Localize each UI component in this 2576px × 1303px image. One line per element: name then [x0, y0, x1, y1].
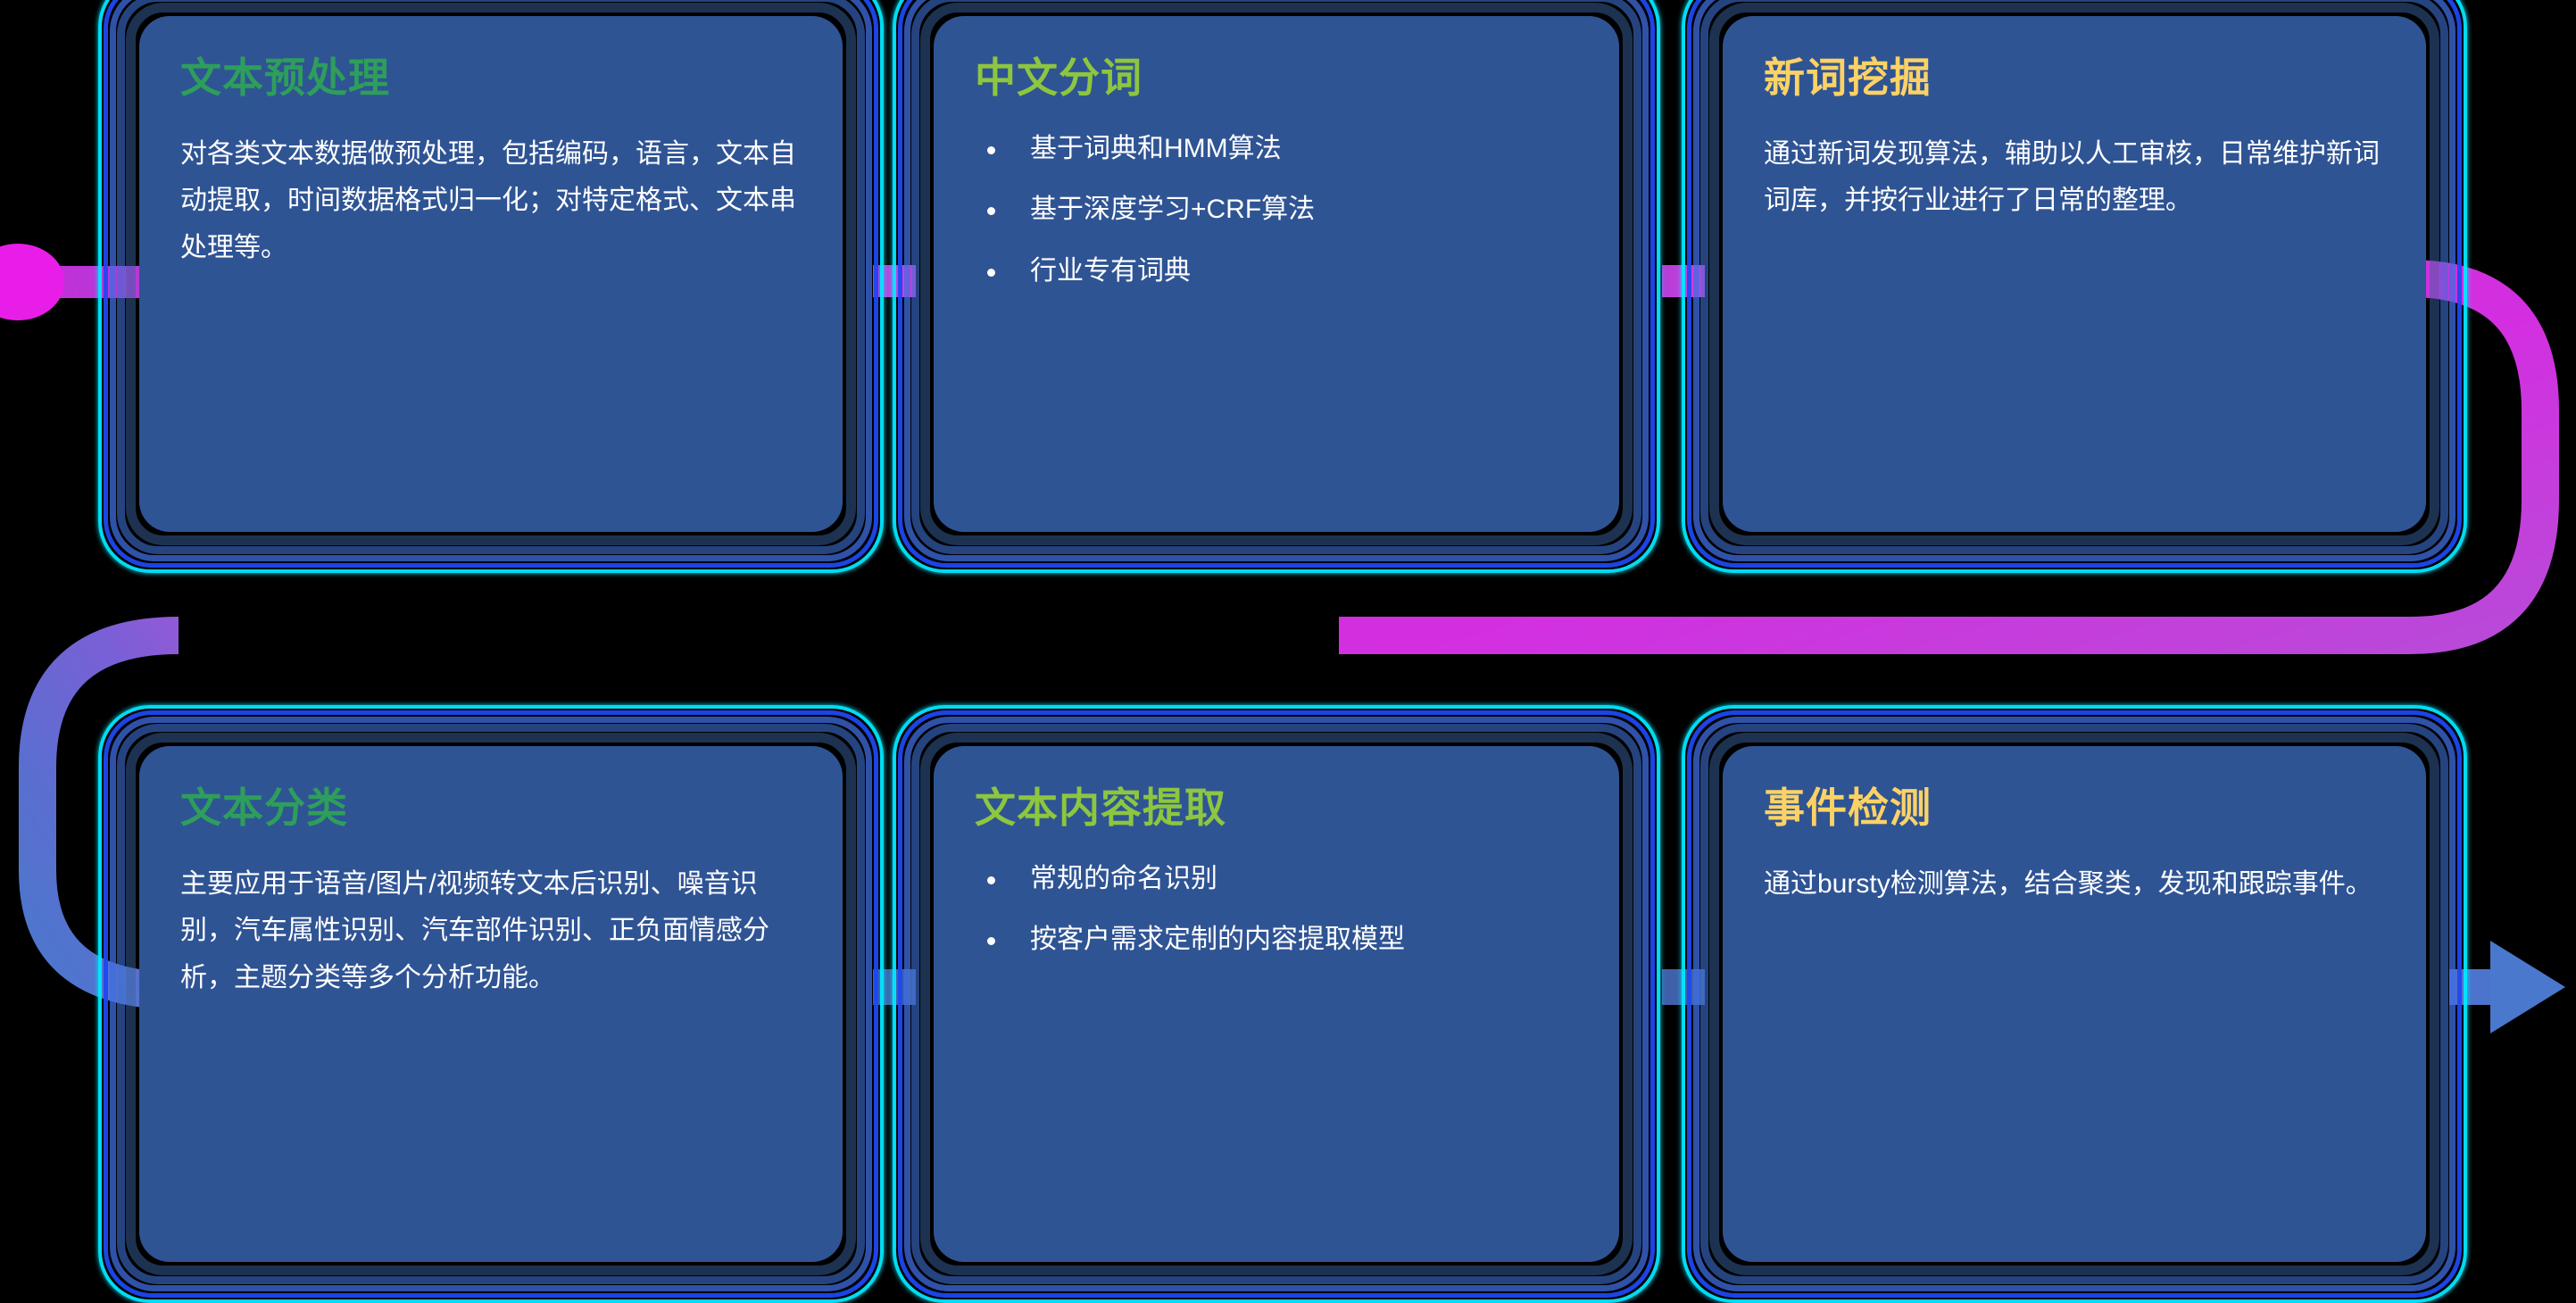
list-item-label: 基于词典和HMM算法: [1030, 134, 1282, 163]
bullet-dot-icon: [987, 207, 995, 215]
card-text-content-extraction[interactable]: 文本内容提取 常规的命名识别 按客户需求定制的内容提取模型: [893, 705, 1660, 1303]
card-chinese-word-segmentation[interactable]: 中文分词 基于词典和HMM算法 基于深度学习+CRF算法 行业专有词典: [893, 0, 1660, 573]
list-item-label: 行业专有词典: [1030, 256, 1191, 286]
card-event-detection[interactable]: 事件检测 通过bursty检测算法，结合聚类，发现和跟踪事件。: [1682, 705, 2467, 1303]
card-surface: 文本预处理 对各类文本数据做预处理，包括编码，语言，文本自动提取，时间数据格式归…: [139, 16, 843, 532]
card-paragraph: 通过新词发现算法，辅助以人工审核，日常维护新词词库，并按行业进行了日常的整理。: [1764, 131, 2385, 225]
list-item-label: 基于深度学习+CRF算法: [1030, 195, 1315, 224]
card-bullet-list: 常规的命名识别 按客户需求定制的内容提取模型: [975, 861, 1578, 959]
card-surface: 文本分类 主要应用于语音/图片/视频转文本后识别、噪音识别，汽车属性识别、汽车部…: [139, 746, 843, 1262]
card-body: 主要应用于语音/图片/视频转文本后识别、噪音识别，汽车属性识别、汽车部件识别、正…: [180, 861, 802, 1002]
list-item: 常规的命名识别: [975, 861, 1578, 898]
card-paragraph: 通过bursty检测算法，结合聚类，发现和跟踪事件。: [1764, 861, 2385, 909]
bullet-dot-icon: [987, 146, 995, 154]
card-new-word-mining[interactable]: 新词挖掘 通过新词发现算法，辅助以人工审核，日常维护新词词库，并按行业进行了日常…: [1682, 0, 2467, 573]
card-title: 新词挖掘: [1764, 55, 2385, 101]
card-title: 文本分类: [180, 785, 802, 831]
diagram-canvas: 文本预处理 对各类文本数据做预处理，包括编码，语言，文本自动提取，时间数据格式归…: [0, 0, 2576, 1277]
card-paragraph: 对各类文本数据做预处理，包括编码，语言，文本自动提取，时间数据格式归一化；对特定…: [180, 131, 802, 272]
card-title: 事件检测: [1764, 785, 2385, 831]
bullet-dot-icon: [987, 269, 995, 277]
card-title: 文本预处理: [180, 55, 802, 101]
card-body: 基于词典和HMM算法 基于深度学习+CRF算法 行业专有词典: [975, 131, 1578, 290]
card-body: 对各类文本数据做预处理，包括编码，语言，文本自动提取，时间数据格式归一化；对特定…: [180, 131, 802, 272]
card-paragraph: 主要应用于语音/图片/视频转文本后识别、噪音识别，汽车属性识别、汽车部件识别、正…: [180, 861, 802, 1002]
card-title: 中文分词: [975, 55, 1578, 101]
list-item: 按客户需求定制的内容提取模型: [975, 922, 1578, 959]
list-item-label: 按客户需求定制的内容提取模型: [1030, 925, 1405, 954]
card-surface: 新词挖掘 通过新词发现算法，辅助以人工审核，日常维护新词词库，并按行业进行了日常…: [1723, 16, 2426, 532]
list-item: 基于深度学习+CRF算法: [975, 192, 1578, 228]
card-surface: 事件检测 通过bursty检测算法，结合聚类，发现和跟踪事件。: [1723, 746, 2426, 1262]
card-text-preprocessing[interactable]: 文本预处理 对各类文本数据做预处理，包括编码，语言，文本自动提取，时间数据格式归…: [98, 0, 884, 573]
card-surface: 中文分词 基于词典和HMM算法 基于深度学习+CRF算法 行业专有词典: [934, 16, 1619, 532]
card-surface: 文本内容提取 常规的命名识别 按客户需求定制的内容提取模型: [934, 746, 1619, 1262]
card-title: 文本内容提取: [975, 785, 1578, 831]
list-item-label: 常规的命名识别: [1030, 864, 1217, 893]
card-bullet-list: 基于词典和HMM算法 基于深度学习+CRF算法 行业专有词典: [975, 131, 1578, 290]
card-body: 通过bursty检测算法，结合聚类，发现和跟踪事件。: [1764, 861, 2385, 909]
list-item: 基于词典和HMM算法: [975, 131, 1578, 168]
card-body: 常规的命名识别 按客户需求定制的内容提取模型: [975, 861, 1578, 959]
bullet-dot-icon: [987, 937, 995, 945]
bullet-dot-icon: [987, 876, 995, 884]
list-item: 行业专有词典: [975, 253, 1578, 290]
card-body: 通过新词发现算法，辅助以人工审核，日常维护新词词库，并按行业进行了日常的整理。: [1764, 131, 2385, 225]
card-text-classification[interactable]: 文本分类 主要应用于语音/图片/视频转文本后识别、噪音识别，汽车属性识别、汽车部…: [98, 705, 884, 1303]
